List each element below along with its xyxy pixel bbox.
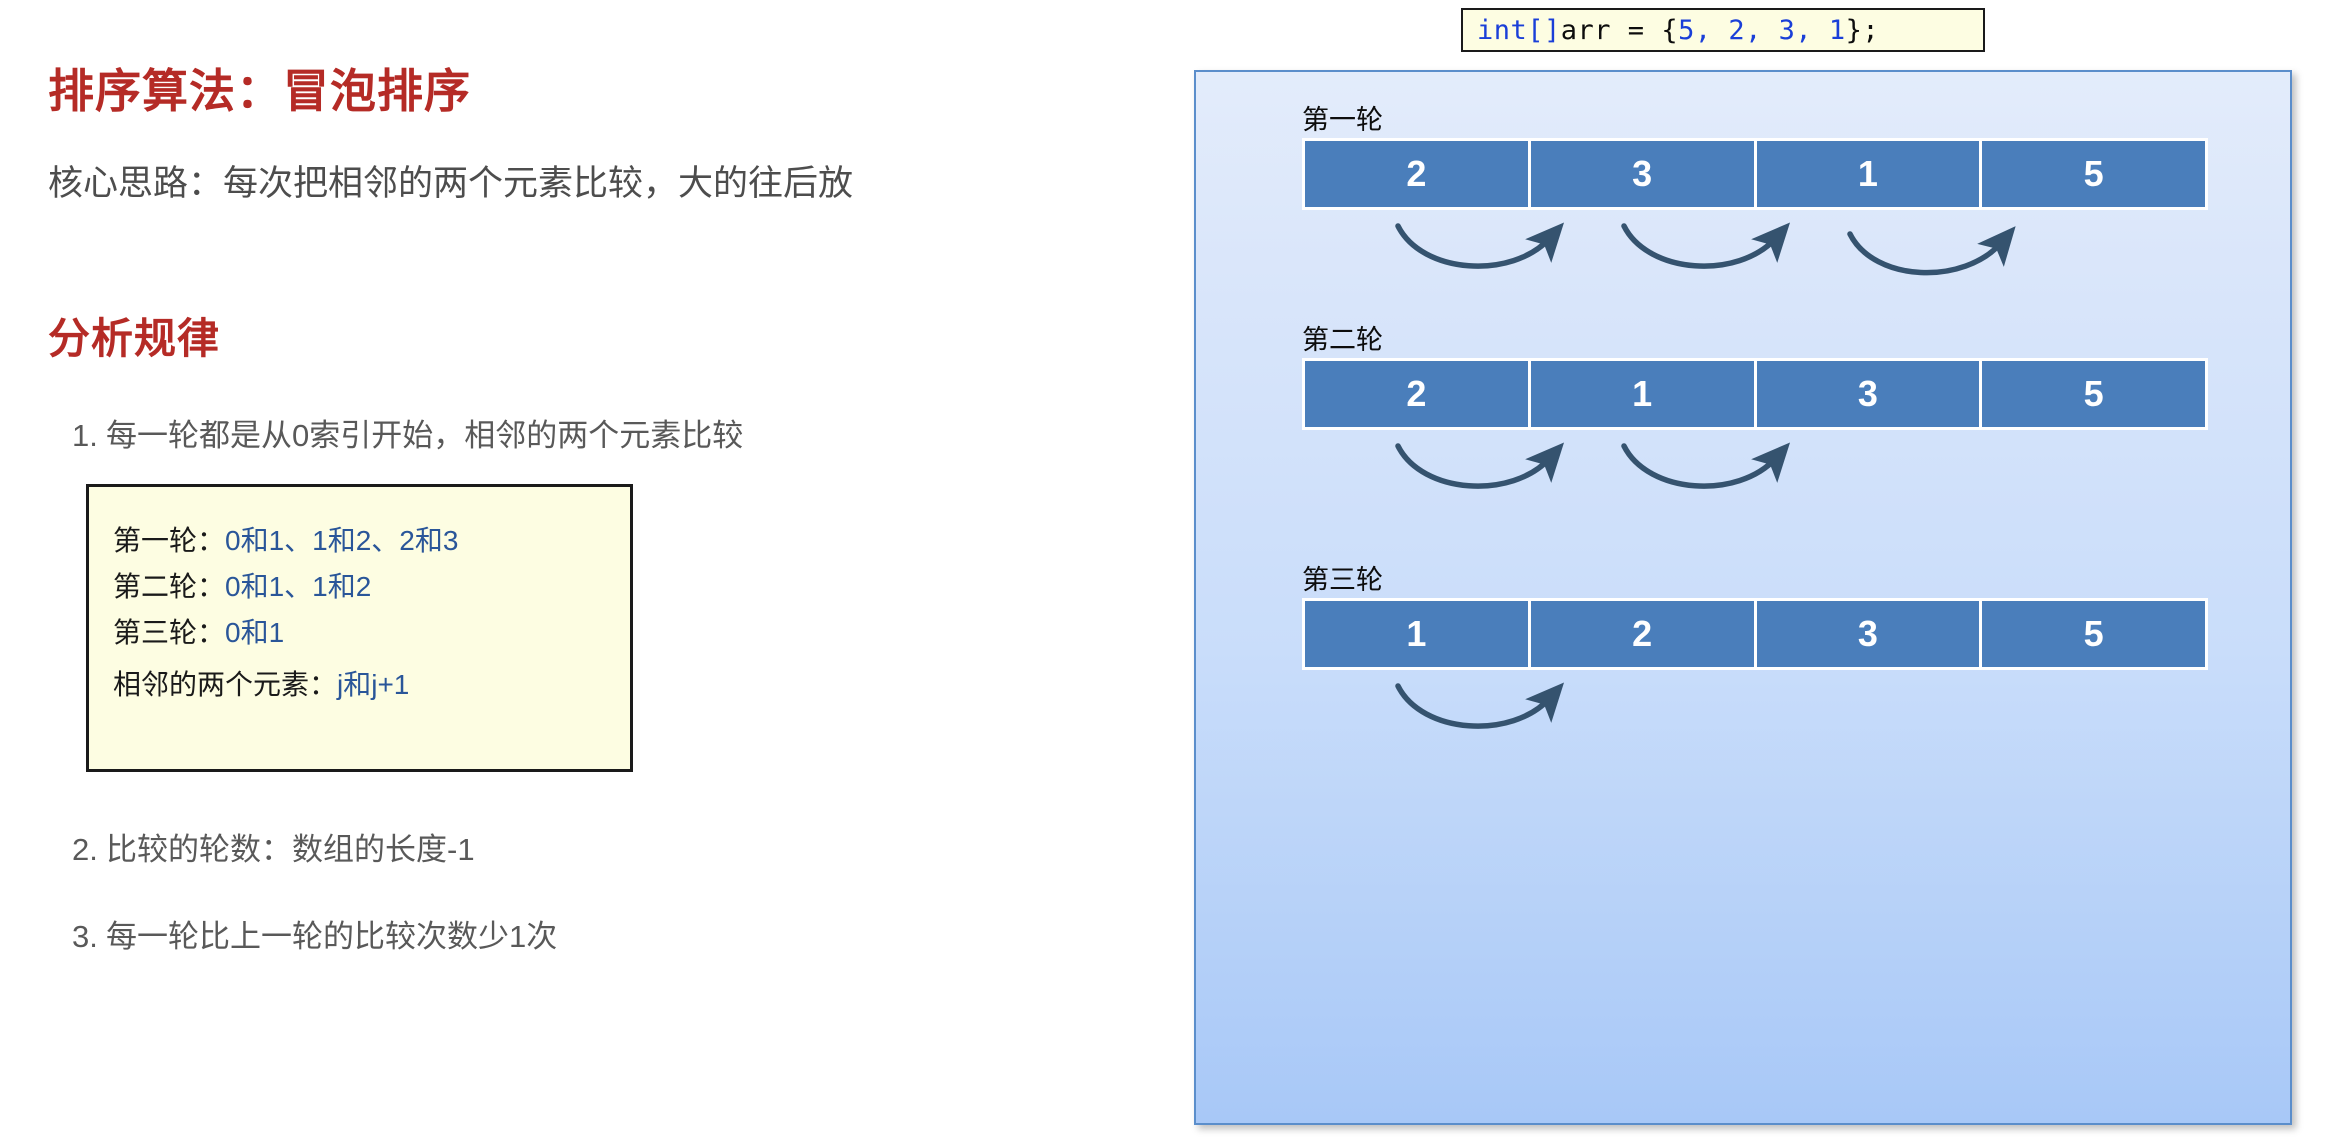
round-heading-3: 第三轮 <box>1302 558 1383 597</box>
array-cell: 2 <box>1305 141 1531 207</box>
core-idea-text: 核心思路：每次把相邻的两个元素比较，大的往后放 <box>48 155 853 206</box>
code-type-keyword: int[] <box>1477 15 1561 46</box>
swap-arrow-icon <box>1624 446 1776 486</box>
rounds-line-1-pairs: 0和1、1和2、2和3 <box>225 525 458 556</box>
array-cell: 2 <box>1305 361 1531 427</box>
rounds-line-4-pairs: j和j+1 <box>337 669 409 700</box>
array-row-round-3: 1 2 3 5 <box>1302 598 2208 670</box>
code-tail: }; <box>1846 15 1880 46</box>
rounds-line-4-label: 相邻的两个元素： <box>113 669 337 700</box>
swap-arrow-icon <box>1624 226 1776 266</box>
rule-number-3: 3. <box>72 919 106 955</box>
bubble-sort-diagram-panel: 第一轮 2 3 1 5 第二轮 2 1 3 5 <box>1194 70 2292 1125</box>
rule-list-item-2: 2.比较的轮数：数组的长度-1 <box>72 824 475 869</box>
code-snippet-box: int[] arr = {5, 2, 3, 1}; <box>1461 8 1985 52</box>
code-array-values: 5, 2, 3, 1 <box>1678 15 1846 46</box>
array-cell: 1 <box>1305 601 1531 667</box>
left-content-column: 排序算法：冒泡排序 核心思路：每次把相邻的两个元素比较，大的往后放 分析规律 1… <box>0 0 1180 1144</box>
array-cell: 3 <box>1531 141 1757 207</box>
array-cell: 5 <box>1982 361 2205 427</box>
section-title: 分析规律 <box>48 305 220 366</box>
rounds-line-3-pairs: 0和1 <box>225 617 284 648</box>
rule-text-1: 每一轮都是从0索引开始，相邻的两个元素比较 <box>106 418 743 453</box>
array-cell: 3 <box>1757 361 1983 427</box>
rounds-callout-box: 第一轮：0和1、1和2、2和3 第二轮：0和1、1和2 第三轮：0和1 相邻的两… <box>86 484 633 772</box>
rule-list-item-1: 1.每一轮都是从0索引开始，相邻的两个元素比较 <box>72 410 743 455</box>
array-row-round-2: 2 1 3 5 <box>1302 358 2208 430</box>
array-cell: 5 <box>1982 601 2205 667</box>
swap-arrow-icon <box>1850 234 2002 273</box>
rounds-line-4: 相邻的两个元素：j和j+1 <box>113 663 409 703</box>
rounds-line-2-pairs: 0和1、1和2 <box>225 571 371 602</box>
rule-list-item-3: 3.每一轮比上一轮的比较次数少1次 <box>72 911 557 956</box>
panel-bottom-spacer <box>1196 1112 1197 1113</box>
array-row-round-1: 2 3 1 5 <box>1302 138 2208 210</box>
rounds-line-3-label: 第三轮： <box>113 617 225 648</box>
rounds-line-2: 第二轮：0和1、1和2 <box>113 565 371 605</box>
round-heading-2: 第二轮 <box>1302 318 1383 357</box>
swap-arrow-icon <box>1398 686 1550 726</box>
rounds-line-3: 第三轮：0和1 <box>113 611 284 651</box>
rule-number-1: 1. <box>72 418 106 454</box>
rule-text-2: 比较的轮数：数组的长度-1 <box>106 832 475 867</box>
rounds-line-1-label: 第一轮： <box>113 525 225 556</box>
array-cell: 1 <box>1757 141 1983 207</box>
swap-arrow-icon <box>1398 226 1550 266</box>
rounds-line-1: 第一轮：0和1、1和2、2和3 <box>113 519 458 559</box>
swap-arrows-round-3 <box>1302 672 2208 752</box>
array-cell: 1 <box>1531 361 1757 427</box>
rounds-line-2-label: 第二轮： <box>113 571 225 602</box>
array-cell: 5 <box>1982 141 2205 207</box>
page-title: 排序算法：冒泡排序 <box>48 55 471 121</box>
swap-arrows-round-2 <box>1302 432 2208 512</box>
array-cell: 2 <box>1531 601 1757 667</box>
code-assignment: arr = { <box>1561 15 1678 46</box>
rule-text-3: 每一轮比上一轮的比较次数少1次 <box>106 919 557 954</box>
array-cell: 3 <box>1757 601 1983 667</box>
round-heading-1: 第一轮 <box>1302 98 1383 137</box>
swap-arrow-icon <box>1398 446 1550 486</box>
rule-number-2: 2. <box>72 832 106 868</box>
swap-arrows-round-1 <box>1302 212 2208 292</box>
